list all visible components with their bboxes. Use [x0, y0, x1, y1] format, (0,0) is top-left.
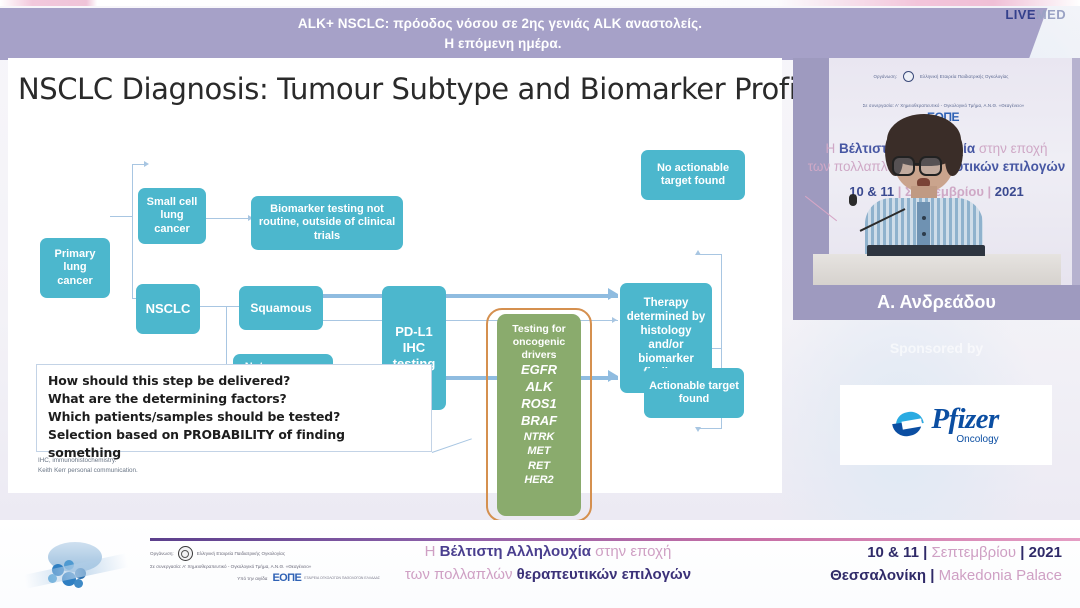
laptop-screen: [867, 245, 985, 256]
arrow-icon: [612, 317, 617, 323]
question-3: Which patients/samples should be tested?: [48, 408, 422, 426]
microphone-head-icon: [849, 194, 857, 206]
pfizer-wordmark: Pfizer Oncology: [931, 405, 998, 445]
backdrop-title-l1a: Η: [826, 141, 840, 156]
footnote-2: Keith Kerr personal communication.: [38, 466, 138, 476]
footer-collab-row: Σε συνεργασία: Α' Χημειοθεραπευτικό - Ογ…: [150, 564, 380, 569]
speaker-hair-right: [945, 134, 963, 176]
livemed-logo-secondary: MED: [1036, 7, 1066, 22]
gene-met: MET: [527, 444, 550, 458]
flow-box-primary-lung-cancer[interactable]: Primary lung cancer: [40, 238, 110, 298]
footer-organizer-label: Οργάνωση:: [150, 551, 174, 556]
footer-title-l1a: Η: [425, 543, 440, 560]
shirt-button: [922, 232, 926, 236]
footer-event-details: 10 & 11 | Σεπτεμβρίου | 2021 Θεσσαλονίκη…: [830, 541, 1062, 588]
flow-box-nsclc[interactable]: NSCLC: [136, 284, 200, 334]
arrow-icon: [144, 161, 149, 167]
speaker-name-bar: Α. Ανδρεάδου: [793, 285, 1080, 320]
gene-ros1: ROS1: [521, 396, 556, 413]
question-2: What are the determining factors?: [48, 390, 422, 408]
eope-logo: ΕΟΠΕ ΕΤΑΙΡΕΙΑ ΟΓΚΟΛΟΓΩΝ ΠΑΘΟΛΟΓΩΝ ΕΛΛΑΔΑ…: [272, 572, 380, 584]
glasses-left-lens-icon: [892, 156, 915, 176]
footer-date-sep1: |: [919, 544, 932, 561]
gene-ntrk: NTRK: [524, 430, 555, 444]
question-1: How should this step be delivered?: [48, 372, 422, 390]
footer-collab-line: Σε συνεργασία: Α' Χημειοθεραπευτικό - Ογ…: [150, 564, 311, 569]
connector: [132, 164, 133, 298]
footer-title-l2b: θεραπευτικών επιλογών: [517, 566, 691, 583]
event-emblem: [20, 536, 130, 602]
sponsor-sub: Oncology: [956, 435, 998, 445]
flow-box-actionable-target[interactable]: Actionable target found: [644, 368, 744, 418]
connector: [206, 218, 250, 219]
testing-heading-line2: oncogenic: [513, 336, 566, 349]
footer-event-title: Η Βέλτιστη Αλληλουχία στην εποχή των πολ…: [368, 541, 728, 586]
footer-title-l1b: Βέλτιστη Αλληλουχία: [440, 543, 591, 560]
eope-logo-text: ΕΟΠΕ: [272, 572, 301, 584]
questions-box[interactable]: How should this step be delivered? What …: [36, 364, 432, 452]
sponsor-name: Pfizer: [931, 405, 998, 434]
connector: [110, 216, 132, 217]
speaker-video[interactable]: Οργάνωση: Ελληνική Εταιρεία Παιδιατρικής…: [793, 58, 1080, 285]
sponsored-by-label: Sponsored by: [793, 340, 1080, 356]
footer-city: Θεσσαλονίκη: [830, 567, 926, 584]
gene-alk: ALK: [526, 379, 553, 396]
gene-egfr: EGFR: [521, 362, 557, 379]
backdrop-collab-line: Σε συνεργασία: Α' Χημειοθεραπευτικό - Ογ…: [863, 103, 1025, 108]
gene-her2: HER2: [524, 473, 553, 487]
slide-footnotes: IHC, immunohistochemistry. Keith Kerr pe…: [38, 456, 138, 477]
backdrop-organizer-name: Ελληνική Εταιρεία Παιδιατρικής Ογκολογία…: [920, 74, 1009, 79]
flow-box-biomarker-not-routine[interactable]: Biomarker testing not routine, outside o…: [251, 196, 403, 250]
session-title-line1: ALK+ NSCLC: πρόοδος νόσου σε 2ης γενιάς …: [298, 14, 702, 34]
footer-organizer-row: Οργάνωση: Ελληνική Εταιρεία Παιδιατρικής…: [150, 546, 380, 561]
footer-title-line2: των πολλαπλών θεραπευτικών επιλογών: [368, 564, 728, 587]
presentation-slide[interactable]: NSCLC Diagnosis: Tumour Subtype and Biom…: [8, 58, 782, 493]
gene-braf: BRAF: [521, 413, 557, 430]
footer-location-line: Θεσσαλονίκη | Makedonia Palace: [830, 564, 1062, 587]
livemed-logo: LIVEMED: [1005, 7, 1066, 22]
flow-box-squamous[interactable]: Squamous: [239, 286, 323, 330]
backdrop-organizer-row: Οργάνωση: Ελληνική Εταιρεία Παιδιατρικής…: [851, 70, 1031, 82]
session-title: ALK+ NSCLC: πρόοδος νόσου σε 2ης γενιάς …: [0, 8, 1000, 60]
footer-date-sep2: |: [1016, 544, 1029, 561]
footer-date-year: 2021: [1029, 544, 1062, 561]
flow-box-no-actionable-target[interactable]: No actionable target found: [641, 150, 745, 200]
footer-date-month: Σεπτεμβρίου: [931, 544, 1016, 561]
screen-root: ALK+ NSCLC: πρόοδος νόσου σε 2ης γενιάς …: [0, 0, 1080, 608]
backdrop-title-l1c: στην εποχή: [975, 141, 1047, 156]
connector-thick: [446, 294, 618, 298]
footer-organizer-name: Ελληνική Εταιρεία Παιδιατρικής Ογκολογία…: [197, 551, 285, 556]
shirt-button: [922, 216, 926, 220]
arrow-icon: [608, 288, 618, 300]
connector: [432, 438, 472, 453]
glasses-bridge-icon: [915, 163, 920, 165]
flow-box-testing-for-oncogenic-drivers[interactable]: Testing for oncogenic drivers EGFR ALK R…: [497, 314, 581, 516]
footnote-1: IHC, immunohistochemistry.: [38, 456, 138, 466]
gene-ret: RET: [528, 459, 550, 473]
sponsor-logo[interactable]: Pfizer Oncology: [840, 385, 1052, 465]
organizer-seal-icon: [903, 71, 914, 82]
testing-heading-line1: Testing for: [512, 323, 565, 336]
flowchart: Primary lung cancer Small cell lung canc…: [8, 58, 782, 493]
footer-venue: Makedonia Palace: [939, 567, 1062, 584]
backdrop-date-c: 2021: [995, 184, 1024, 199]
footer-title-l2a: των πολλαπλών: [405, 566, 517, 583]
connector: [721, 254, 722, 350]
society-seal-icon: [178, 546, 193, 561]
footer-title-line1: Η Βέλτιστη Αλληλουχία στην εποχή: [368, 541, 728, 564]
backdrop-date-sep2: |: [984, 184, 995, 199]
testing-heading-line3: drivers: [521, 349, 556, 362]
podium: [813, 254, 1061, 285]
footer-auspices-label: Υπό την αιγίδα: [237, 576, 267, 581]
connector: [698, 428, 722, 429]
speaker-name: Α. Ανδρεάδου: [877, 292, 996, 313]
arrow-icon: [695, 250, 701, 255]
footer-title-l1c: στην εποχή: [591, 543, 671, 560]
footer-location-sep: |: [926, 567, 939, 584]
arrow-icon: [695, 427, 701, 432]
flow-box-small-cell-lung-cancer[interactable]: Small cell lung cancer: [138, 188, 206, 244]
pfizer-mark-icon: [893, 410, 927, 440]
connector: [698, 254, 722, 255]
footer-organizers: Οργάνωση: Ελληνική Εταιρεία Παιδιατρικής…: [150, 546, 380, 587]
session-title-line2: Η επόμενη ημέρα.: [438, 34, 561, 54]
footer-date-line: 10 & 11 | Σεπτεμβρίου | 2021: [830, 541, 1062, 564]
livemed-logo-primary: LIVE: [1005, 7, 1036, 22]
connector: [318, 320, 383, 321]
connector: [200, 306, 226, 307]
footer-auspices-row: Υπό την αιγίδα ΕΟΠΕ ΕΤΑΙΡΕΙΑ ΟΓΚΟΛΟΓΩΝ Π…: [150, 572, 380, 584]
connector-thick: [318, 294, 383, 298]
footer-date-days: 10 & 11: [867, 544, 919, 561]
glasses-right-lens-icon: [919, 156, 942, 176]
backdrop-organizer-label: Οργάνωση:: [873, 74, 897, 79]
arrow-icon: [608, 370, 618, 382]
